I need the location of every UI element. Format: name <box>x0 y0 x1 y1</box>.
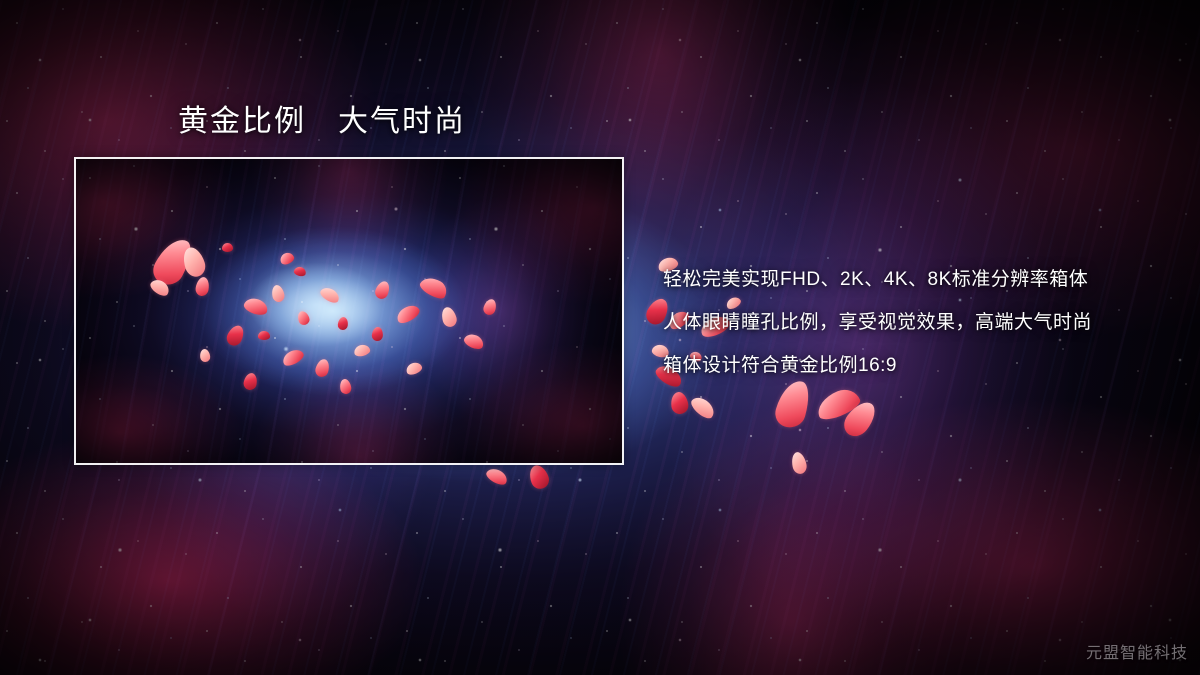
framed-petal <box>440 305 459 328</box>
framed-petal <box>462 331 486 351</box>
company-watermark: 元盟智能科技 <box>1086 639 1188 663</box>
framed-petal <box>180 245 208 280</box>
photo-bright-core <box>76 159 622 463</box>
framed-petal <box>482 298 498 317</box>
framed-petal <box>278 251 295 267</box>
framed-petal <box>394 302 422 326</box>
framed-petal <box>148 233 197 290</box>
framed-petal <box>293 266 307 278</box>
framed-petal <box>418 273 451 302</box>
framed-petal <box>405 360 424 376</box>
background-petal <box>813 385 863 424</box>
page-title: 黄金比例 大气时尚 <box>178 103 466 141</box>
background-petal <box>790 451 808 475</box>
framed-petal <box>280 347 306 369</box>
description-line-2: 人体眼睛瞳孔比例，享受视觉效果，高端大气时尚 <box>663 301 1163 344</box>
background-petal <box>484 466 510 488</box>
framed-petal <box>373 279 392 301</box>
framed-petal <box>270 284 285 303</box>
framed-petal <box>242 296 269 318</box>
background-petal <box>688 393 718 421</box>
feature-description-block: 轻松完美实现FHD、2K、4K、8K标准分辨率箱体 人体眼睛瞳孔比例，享受视觉效… <box>663 258 1163 387</box>
framed-petal <box>224 323 247 348</box>
framed-petal <box>339 378 352 395</box>
framed-petal <box>296 310 311 327</box>
framed-petal <box>222 243 233 252</box>
framed-photo <box>74 157 624 465</box>
presentation-slide: 黄金比例 大气时尚 轻松完美实现FHD、2K、4K、8K标准分辨率箱体 人体眼睛… <box>0 0 1200 675</box>
background-petal <box>839 397 881 442</box>
framed-petal <box>318 285 341 305</box>
background-petal <box>526 463 551 492</box>
framed-petal <box>371 326 383 341</box>
photo-crimson-clouds <box>76 159 622 463</box>
framed-petal <box>194 276 210 297</box>
framed-photo-image <box>76 159 622 463</box>
framed-petal <box>148 277 172 299</box>
photo-violet-veil <box>76 159 622 463</box>
framed-petal <box>242 372 258 391</box>
framed-petal <box>353 343 371 358</box>
photo-starfield <box>76 159 622 463</box>
background-petal <box>670 391 690 415</box>
photo-vignette <box>76 159 622 463</box>
description-line-3: 箱体设计符合黄金比例16:9 <box>663 344 1163 387</box>
description-line-1: 轻松完美实现FHD、2K、4K、8K标准分辨率箱体 <box>663 258 1163 301</box>
photo-starfield-bright <box>76 159 622 463</box>
framed-petal <box>337 316 349 330</box>
framed-petal <box>314 358 331 379</box>
photo-nebula-base <box>76 159 622 463</box>
framed-petal <box>199 348 211 362</box>
framed-petal <box>258 331 270 340</box>
